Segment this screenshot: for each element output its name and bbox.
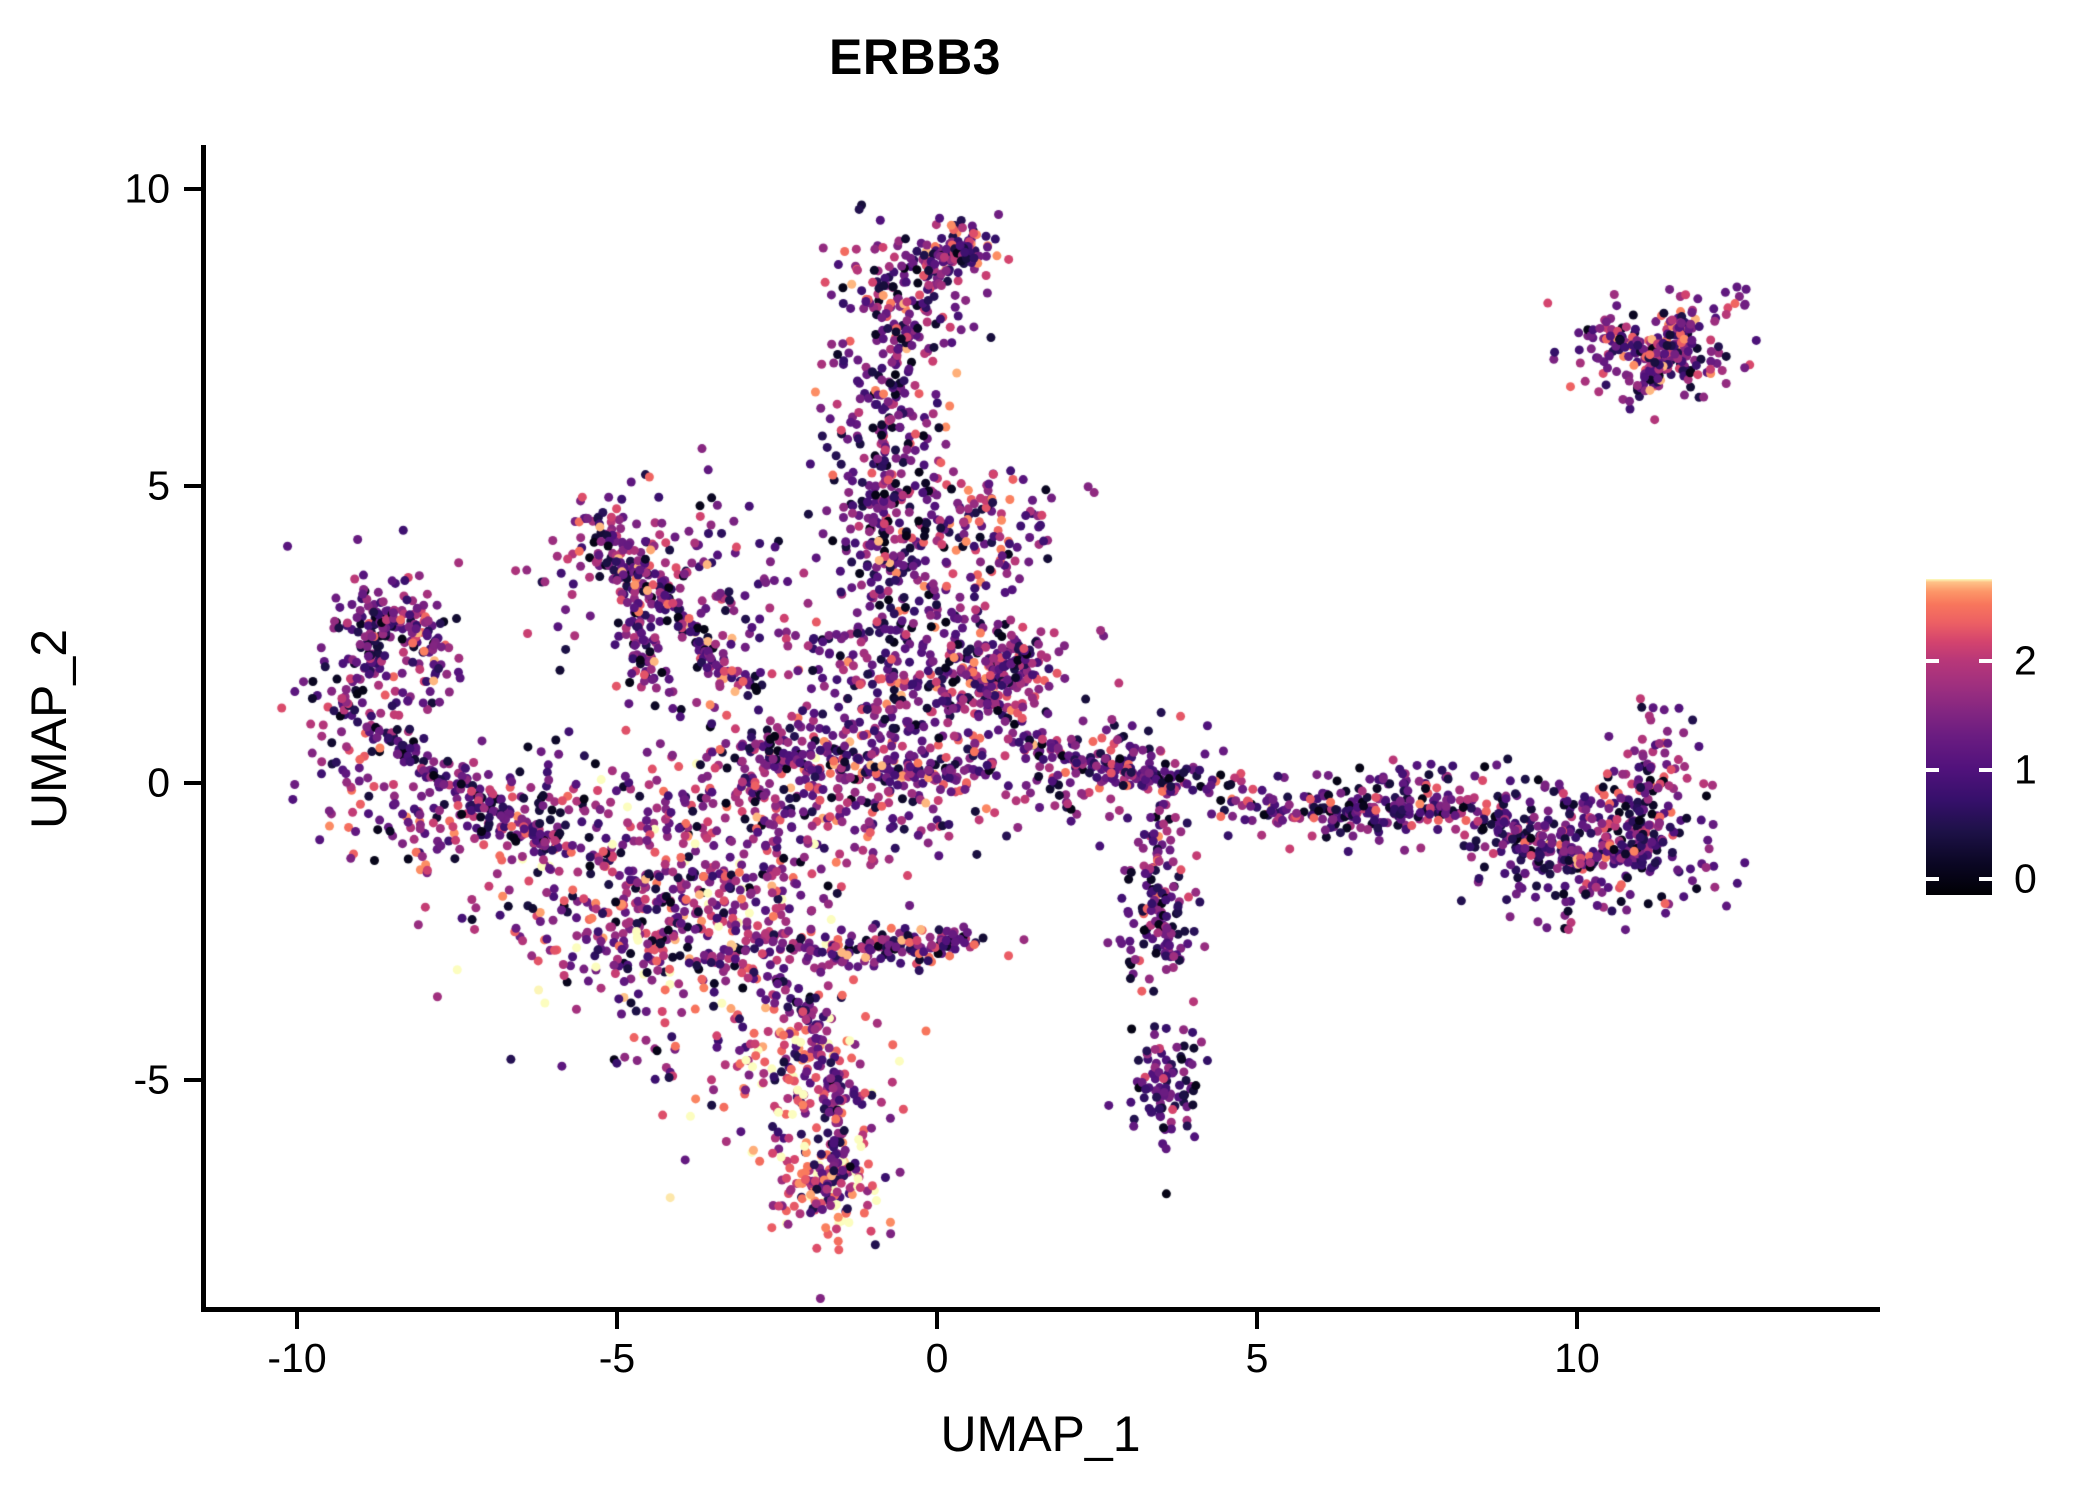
- x-tick-label: 5: [1177, 1335, 1337, 1382]
- y-tick-label: 10: [10, 166, 170, 213]
- x-tick-label: -5: [537, 1335, 697, 1382]
- y-axis-title: UMAP_2: [20, 349, 78, 1109]
- y-tick-mark: [184, 1078, 201, 1082]
- scatter-points-layer: [0, 0, 2100, 1500]
- colorbar-tick-mark: [1979, 877, 1992, 881]
- colorbar-tick-mark: [1979, 659, 1992, 663]
- colorbar-tick-mark: [1926, 877, 1939, 881]
- colorbar: [1926, 579, 1992, 895]
- y-tick-mark: [184, 484, 201, 488]
- colorbar-tick-label: 2: [2014, 637, 2037, 684]
- x-axis-title: UMAP_1: [201, 1405, 1880, 1463]
- x-tick-label: -10: [217, 1335, 377, 1382]
- colorbar-tick-mark: [1926, 768, 1939, 772]
- y-tick-mark: [184, 187, 201, 191]
- colorbar-tick-mark: [1926, 659, 1939, 663]
- x-tick-mark: [1255, 1312, 1259, 1329]
- y-tick-mark: [184, 781, 201, 785]
- colorbar-tick-label: 1: [2014, 746, 2037, 793]
- colorbar-tick-label: 0: [2014, 855, 2037, 902]
- x-tick-mark: [615, 1312, 619, 1329]
- x-tick-mark: [295, 1312, 299, 1329]
- x-tick-mark: [1575, 1312, 1579, 1329]
- x-tick-mark: [935, 1312, 939, 1329]
- x-tick-label: 10: [1497, 1335, 1657, 1382]
- chart-root: ERBB3 -50510 -10-50510 UMAP_1 UMAP_2 012: [0, 0, 2100, 1500]
- colorbar-gradient: [1926, 579, 1992, 895]
- x-tick-label: 0: [857, 1335, 1017, 1382]
- colorbar-tick-mark: [1979, 768, 1992, 772]
